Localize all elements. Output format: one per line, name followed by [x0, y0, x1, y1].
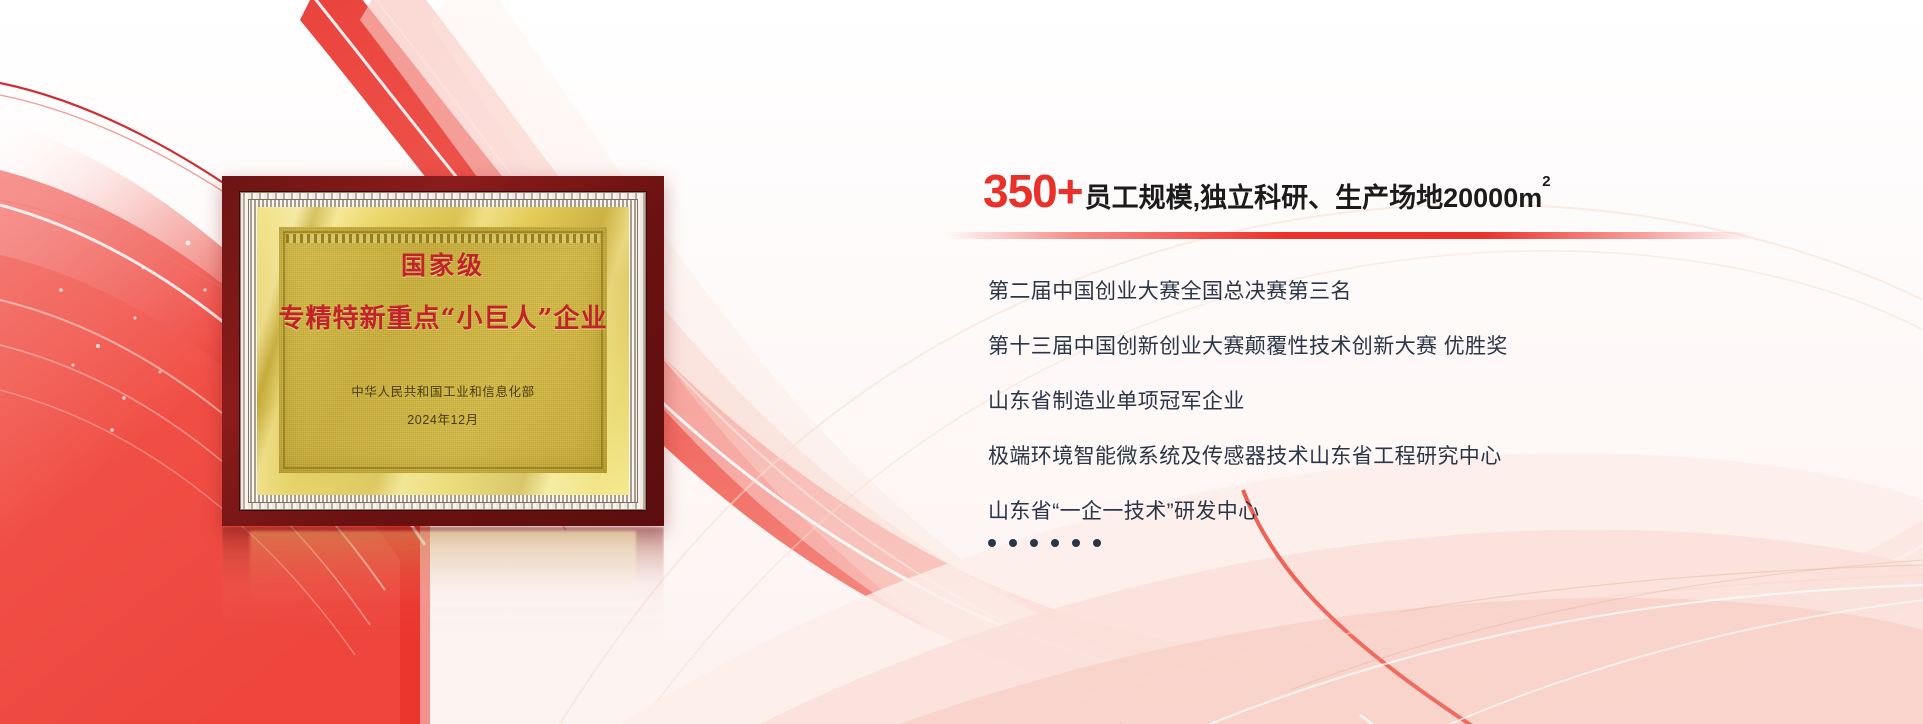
- plaque-text-block: 国家级 专精特新重点“小巨人”企业 中华人民共和国工业和信息化部 2024年12…: [222, 176, 664, 526]
- plaque-date: 2024年12月: [407, 409, 479, 428]
- headline-number: 350+: [983, 168, 1083, 214]
- list-item: 第十三届中国创新创业大赛颠覆性技术创新大赛 优胜奖: [988, 330, 1808, 360]
- list-item: 极端环境智能微系统及传感器技术山东省工程研究中心: [988, 440, 1808, 470]
- ellipsis-dot: [1072, 539, 1080, 547]
- headline-superscript: 2: [1542, 173, 1550, 190]
- ellipsis-dot: [1093, 539, 1101, 547]
- ellipsis-dot: [1030, 539, 1038, 547]
- list-item: 第二届中国创业大赛全国总决赛第三名: [988, 275, 1808, 305]
- plaque-title-line1: 国家级: [401, 246, 485, 282]
- list-item: 山东省“一企一技术”研发中心: [988, 495, 1808, 525]
- plaque-issuer: 中华人民共和国工业和信息化部: [351, 381, 534, 400]
- plaque-outer-frame: 国家级 专精特新重点“小巨人”企业 中华人民共和国工业和信息化部 2024年12…: [222, 176, 664, 526]
- ellipsis-dots: [988, 539, 1101, 547]
- ellipsis-dot: [1051, 539, 1059, 547]
- headline-description: 员工规模,独立科研、生产场地20000m2: [1085, 185, 1551, 212]
- plaque-title-line2: 专精特新重点“小巨人”企业: [279, 298, 608, 335]
- list-item: 山东省制造业单项冠军企业: [988, 385, 1808, 415]
- headline-description-text: 员工规模,独立科研、生产场地20000m: [1085, 183, 1543, 213]
- headline: 350+ 员工规模,独立科研、生产场地20000m2: [983, 168, 1843, 214]
- ellipsis-dot: [988, 539, 996, 547]
- ellipsis-dot: [1009, 539, 1017, 547]
- headline-underline-rule: [945, 232, 1755, 239]
- award-list: 第二届中国创业大赛全国总决赛第三名 第十三届中国创新创业大赛颠覆性技术创新大赛 …: [988, 275, 1808, 550]
- award-plaque: 国家级 专精特新重点“小巨人”企业 中华人民共和国工业和信息化部 2024年12…: [222, 176, 664, 526]
- honors-content: 350+ 员工规模,独立科研、生产场地20000m2 第二届中国创业大赛全国总决…: [983, 168, 1843, 214]
- company-honors-banner: 国家级 专精特新重点“小巨人”企业 中华人民共和国工业和信息化部 2024年12…: [0, 0, 1923, 724]
- plaque-reflection: [222, 527, 664, 667]
